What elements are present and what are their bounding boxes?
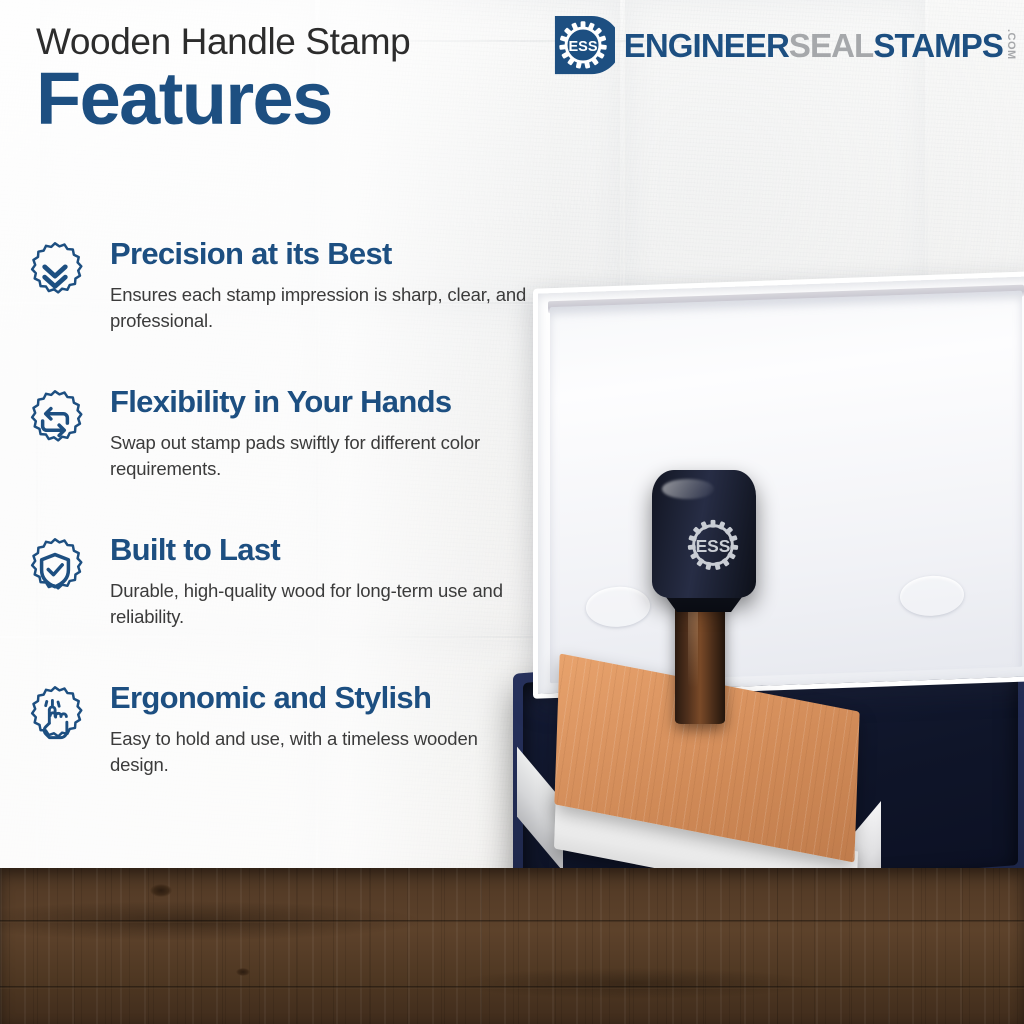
feature-item: Flexibility in Your Hands Swap out stamp…: [22, 384, 582, 532]
header-kicker: Wooden Handle Stamp: [36, 22, 636, 61]
feature-item: Ergonomic and Stylish Easy to hold and u…: [22, 680, 582, 828]
logo-word-seal: SEAL: [789, 29, 873, 62]
feature-title: Built to Last: [110, 534, 582, 567]
page-header: Wooden Handle Stamp Features: [36, 22, 636, 136]
gear-emblem-icon: ESS: [682, 514, 744, 576]
logo-badge-icon: ESS: [553, 14, 615, 76]
logo-word-stamps: STAMPS: [873, 29, 1003, 62]
feature-title: Precision at its Best: [110, 238, 582, 271]
hand-tap-badge-icon: [22, 684, 88, 750]
feature-item: Precision at its Best Ensures each stamp…: [22, 236, 582, 384]
feature-title: Flexibility in Your Hands: [110, 386, 582, 419]
logo-tld: .COM: [1005, 29, 1016, 60]
lid-emboss: [900, 575, 964, 617]
lid-emboss: [586, 586, 650, 628]
infographic-canvas: ESS Wooden Handle Stamp Features: [0, 0, 1024, 1024]
feature-description: Swap out stamp pads swiftly for differen…: [110, 430, 540, 482]
lid-inner-surface: [550, 291, 1022, 683]
feature-description: Ensures each stamp impression is sharp, …: [110, 282, 540, 334]
ess-logo[interactable]: ESS ENGINEER SEAL STAMPS .COM: [553, 14, 1016, 76]
wood-knot: [150, 884, 172, 897]
logo-word-engineer: ENGINEER: [624, 29, 789, 62]
shield-check-badge-icon: [22, 536, 88, 602]
double-chevron-down-badge-icon: [22, 240, 88, 306]
wood-knot: [236, 968, 250, 976]
product-photo: ESS: [505, 250, 1024, 950]
feature-item: Built to Last Durable, high-quality wood…: [22, 532, 582, 680]
swap-arrows-badge-icon: [22, 388, 88, 454]
white-case-lid: [533, 271, 1024, 699]
feature-description: Durable, high-quality wood for long-term…: [110, 578, 540, 630]
black-stamp-handle: ESS: [652, 470, 756, 598]
logo-wordmark: ENGINEER SEAL STAMPS .COM: [624, 29, 1016, 62]
rustic-wood-table: [0, 868, 1024, 1024]
feature-description: Easy to hold and use, with a timeless wo…: [110, 726, 540, 778]
feature-title: Ergonomic and Stylish: [110, 682, 582, 715]
logo-badge-text: ESS: [568, 39, 597, 55]
feature-list: Precision at its Best Ensures each stamp…: [22, 236, 582, 828]
page-title: Features: [36, 63, 636, 136]
handle-logo-text: ESS: [696, 536, 731, 556]
